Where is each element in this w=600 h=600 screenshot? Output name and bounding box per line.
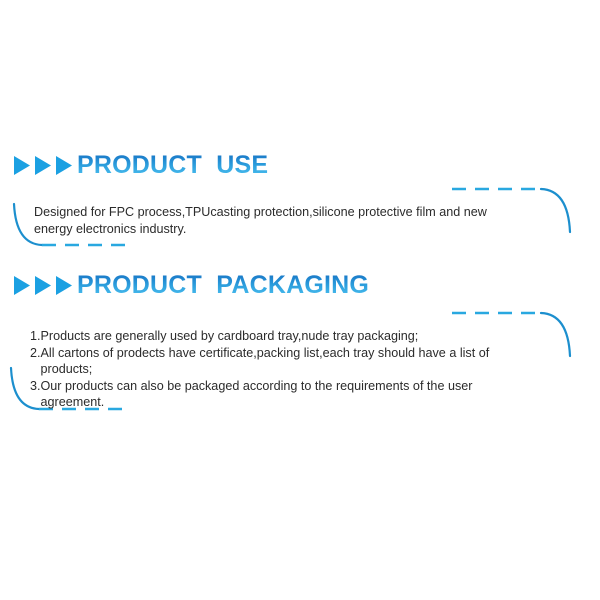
- heading-product-packaging: PRODUCT PACKAGING: [0, 268, 600, 302]
- triangle-right-icon-group: [13, 275, 73, 296]
- section-title: PRODUCT PACKAGING: [77, 273, 369, 298]
- triangle-right-icon: [55, 155, 73, 176]
- triangle-right-icon: [55, 275, 73, 296]
- list-item-continuation: agreement.: [30, 394, 560, 411]
- body-line: energy electronics industry.: [34, 221, 554, 238]
- body-line: Designed for FPC process,TPUcasting prot…: [34, 204, 554, 221]
- triangle-right-icon: [13, 275, 31, 296]
- triangle-right-icon: [34, 275, 52, 296]
- slide-canvas: PRODUCT USE Designed for FPC process,TPU…: [0, 0, 600, 600]
- body-product-packaging: 1.Products are generally used by cardboa…: [30, 328, 560, 411]
- list-item: 1.Products are generally used by cardboa…: [30, 328, 560, 345]
- triangle-right-icon: [13, 155, 31, 176]
- section-title: PRODUCT USE: [77, 153, 268, 178]
- section-product-use: PRODUCT USE Designed for FPC process,TPU…: [0, 148, 600, 182]
- body-product-use: Designed for FPC process,TPUcasting prot…: [34, 204, 554, 237]
- list-item-continuation: products;: [30, 361, 560, 378]
- list-item: 2.All cartons of prodects have certifica…: [30, 345, 560, 362]
- triangle-right-icon: [34, 155, 52, 176]
- heading-product-use: PRODUCT USE: [0, 148, 600, 182]
- section-product-packaging: PRODUCT PACKAGING 1.Products are general…: [0, 268, 600, 302]
- triangle-right-icon-group: [13, 155, 73, 176]
- list-item: 3.Our products can also be packaged acco…: [30, 378, 560, 395]
